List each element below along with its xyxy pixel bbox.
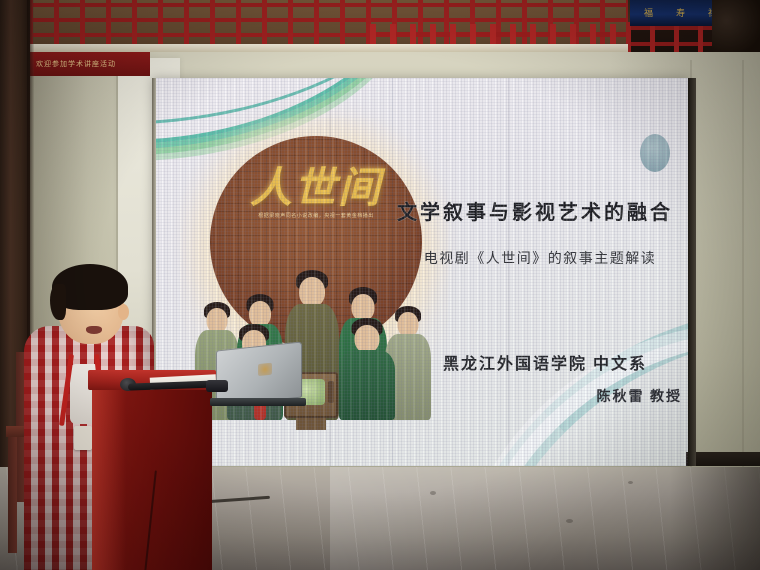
slide-subtitle: 电视剧《人世间》的叙事主题解读 bbox=[400, 248, 680, 268]
head bbox=[352, 294, 375, 321]
slide-title: 文学叙事与影视艺术的融合 bbox=[390, 196, 680, 225]
banner-text: 欢迎参加学术讲座活动 bbox=[36, 59, 116, 69]
floor-shadow-right bbox=[670, 467, 760, 570]
floor-mark bbox=[566, 519, 573, 523]
mouth-speaking bbox=[86, 326, 102, 334]
circle-decoration bbox=[640, 134, 670, 172]
laptop-logo bbox=[258, 363, 272, 376]
hair-side bbox=[50, 284, 66, 320]
laptop[interactable] bbox=[210, 346, 302, 408]
beam-glyph: 寿 bbox=[676, 6, 685, 19]
cast-member bbox=[338, 320, 396, 420]
ear bbox=[118, 304, 129, 320]
wall-base-shadow bbox=[686, 452, 760, 466]
ceiling-trim bbox=[28, 44, 628, 52]
laptop-lid bbox=[216, 341, 302, 406]
tv-stand bbox=[296, 418, 326, 430]
red-podium[interactable] bbox=[88, 370, 216, 570]
ceiling-beams: 福 寿 禄 bbox=[0, 0, 760, 52]
laptop-base bbox=[210, 398, 306, 406]
floor-mark bbox=[430, 491, 436, 495]
tv-knobs bbox=[328, 381, 334, 403]
body bbox=[339, 350, 395, 420]
beam-glyph: 福 bbox=[644, 6, 653, 19]
wall-banner: 欢迎参加学术讲座活动 bbox=[30, 52, 150, 76]
led-panel-seam bbox=[508, 78, 509, 466]
wall-seam bbox=[742, 60, 744, 480]
podium-highlight bbox=[92, 388, 126, 570]
head bbox=[299, 277, 325, 307]
led-panel-seam bbox=[330, 78, 331, 466]
slide-speaker: 陈秋雷 教授 bbox=[452, 386, 682, 406]
head bbox=[355, 325, 380, 353]
dark-corner-beam bbox=[712, 0, 760, 52]
screen-wall-gap bbox=[688, 78, 696, 466]
slide-organization: 黑龙江外国语学院 中文系 bbox=[400, 350, 688, 374]
floor-mark bbox=[628, 481, 633, 484]
photo-scene: 福 寿 禄 欢迎参加学术讲座活动 人世间 根据梁晓声同名小说改编，央视一套黄金档… bbox=[0, 0, 760, 570]
microphone-base[interactable] bbox=[206, 380, 228, 392]
